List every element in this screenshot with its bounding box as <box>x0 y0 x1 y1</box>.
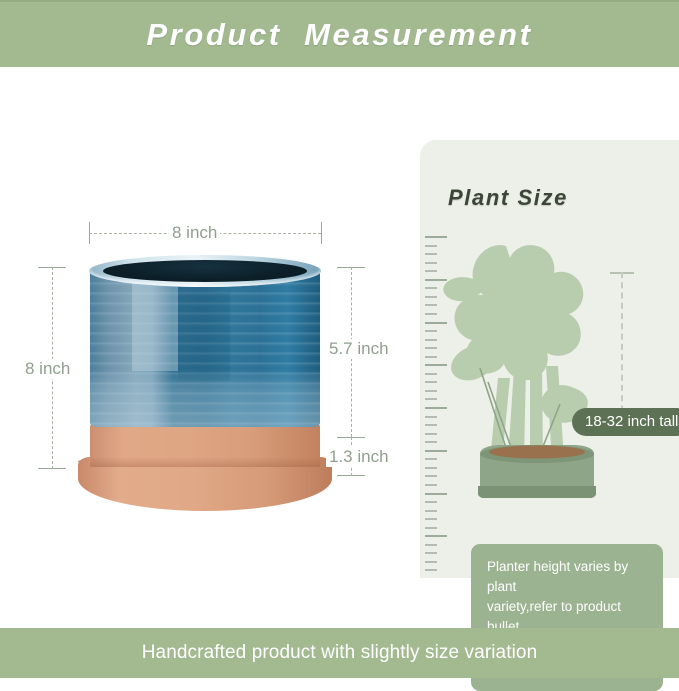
ruler-tick-minor <box>425 561 437 563</box>
pot-interior-opening <box>103 260 307 282</box>
ruler-tick-minor <box>425 433 437 435</box>
ruler-tick-minor <box>425 390 437 392</box>
ruler-tick-minor <box>425 416 437 418</box>
total-height-dim-label: 8 inch <box>22 359 73 379</box>
ruler-tick-minor <box>425 475 437 477</box>
ruler-tick-minor <box>425 304 437 306</box>
pot-terracotta-base <box>90 423 320 467</box>
saucer-height-dim-label: 1.3 inch <box>326 447 392 467</box>
footer-banner: Handcrafted product with slightly size v… <box>0 628 679 678</box>
ruler-tick-minor <box>425 552 437 554</box>
ruler-tick-minor <box>425 518 437 520</box>
ruler-tick-minor <box>425 527 437 529</box>
ruler-tick-minor <box>425 569 437 571</box>
ruler-tick-minor <box>425 347 437 349</box>
ruler-tick-minor <box>425 270 437 272</box>
footer-note: Handcrafted product with slightly size v… <box>142 642 538 664</box>
ruler-tick-minor <box>425 287 437 289</box>
ruler-tick-minor <box>425 467 437 469</box>
plant-size-title: Plant Size <box>448 185 568 211</box>
ruler-tick-major <box>425 535 447 537</box>
width-dim-cap-right <box>321 222 322 244</box>
ruler-tick-minor <box>425 501 437 503</box>
ruler-tick-minor <box>425 441 437 443</box>
ruler-tick-minor <box>425 253 437 255</box>
ruler-tick-minor <box>425 373 437 375</box>
ruler-tick-minor <box>425 313 437 315</box>
ruler-tick-minor <box>425 262 437 264</box>
planter-pot-illustration <box>90 255 320 490</box>
ruler-tick-minor <box>425 330 437 332</box>
ruler-tick-minor <box>425 510 437 512</box>
plant-size-badge: 18-32 inch tall <box>572 408 679 436</box>
pot-height-dim-label: 5.7 inch <box>326 339 392 359</box>
ruler-tick-minor <box>425 544 437 546</box>
page-title: Product Measurement <box>146 17 532 53</box>
product-measurement-diagram: 8 inch 8 inch 5.7 inch <box>0 67 410 628</box>
ruler-tick-minor <box>425 339 437 341</box>
glaze-pattern-panel-dark <box>178 293 230 381</box>
plant-illustration <box>442 228 622 498</box>
ruler-tick-minor <box>425 381 437 383</box>
header-banner: Product Measurement <box>0 0 679 67</box>
ruler-tick-minor <box>425 356 437 358</box>
ruler-tick-minor <box>425 424 437 426</box>
ruler-tick-minor <box>425 398 437 400</box>
width-dim-label: 8 inch <box>169 223 220 243</box>
pot-blue-glazed-body <box>90 267 320 427</box>
main-content-area: 8 inch 8 inch 5.7 inch <box>0 67 679 628</box>
ruler-tick-minor <box>425 245 437 247</box>
ruler-tick-minor <box>425 484 437 486</box>
ruler-tick-minor <box>425 458 437 460</box>
ruler-tick-minor <box>425 296 437 298</box>
note-line-1: Planter height varies by plant <box>487 557 647 597</box>
